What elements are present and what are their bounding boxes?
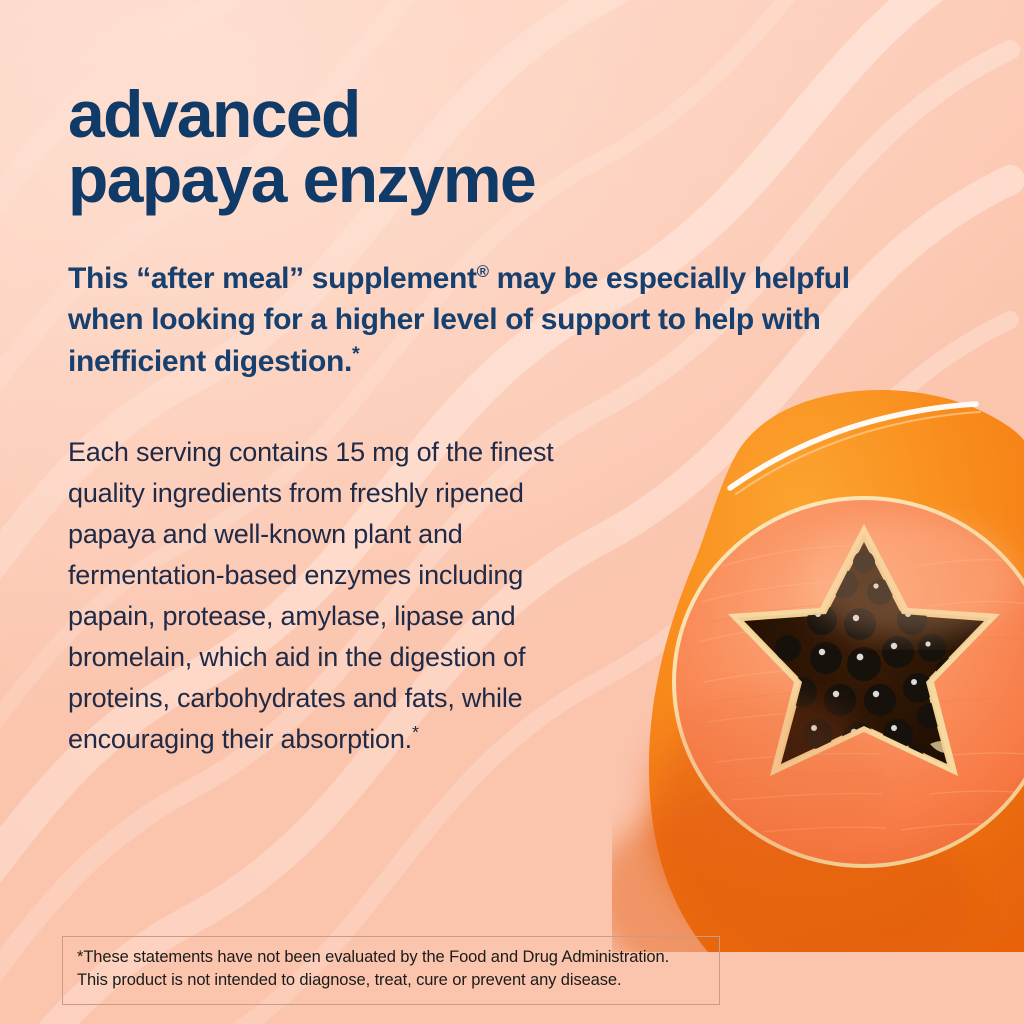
body-copy-text: Each serving contains 15 mg of the fines… [68, 437, 554, 754]
footnote-asterisk: * [352, 343, 359, 365]
subheading-part-1: This “after meal” supplement [68, 262, 477, 295]
disclaimer-line-2: This product is not intended to diagnose… [77, 969, 705, 992]
registered-trademark-icon: ® [477, 262, 489, 281]
fda-disclaimer-box: *These statements have not been evaluate… [62, 936, 720, 1005]
body-copy: Each serving contains 15 mg of the fines… [68, 432, 608, 760]
subheading: This “after meal” supplement® may be esp… [68, 258, 878, 382]
disclaimer-line-1: *These statements have not been evaluate… [77, 946, 705, 969]
footnote-asterisk: * [412, 722, 419, 742]
product-detail-panel: advanced papaya enzyme This “after meal”… [0, 0, 1024, 1024]
page-title: advanced papaya enzyme [68, 82, 708, 211]
text-column: advanced papaya enzyme This “after meal”… [68, 0, 888, 1024]
